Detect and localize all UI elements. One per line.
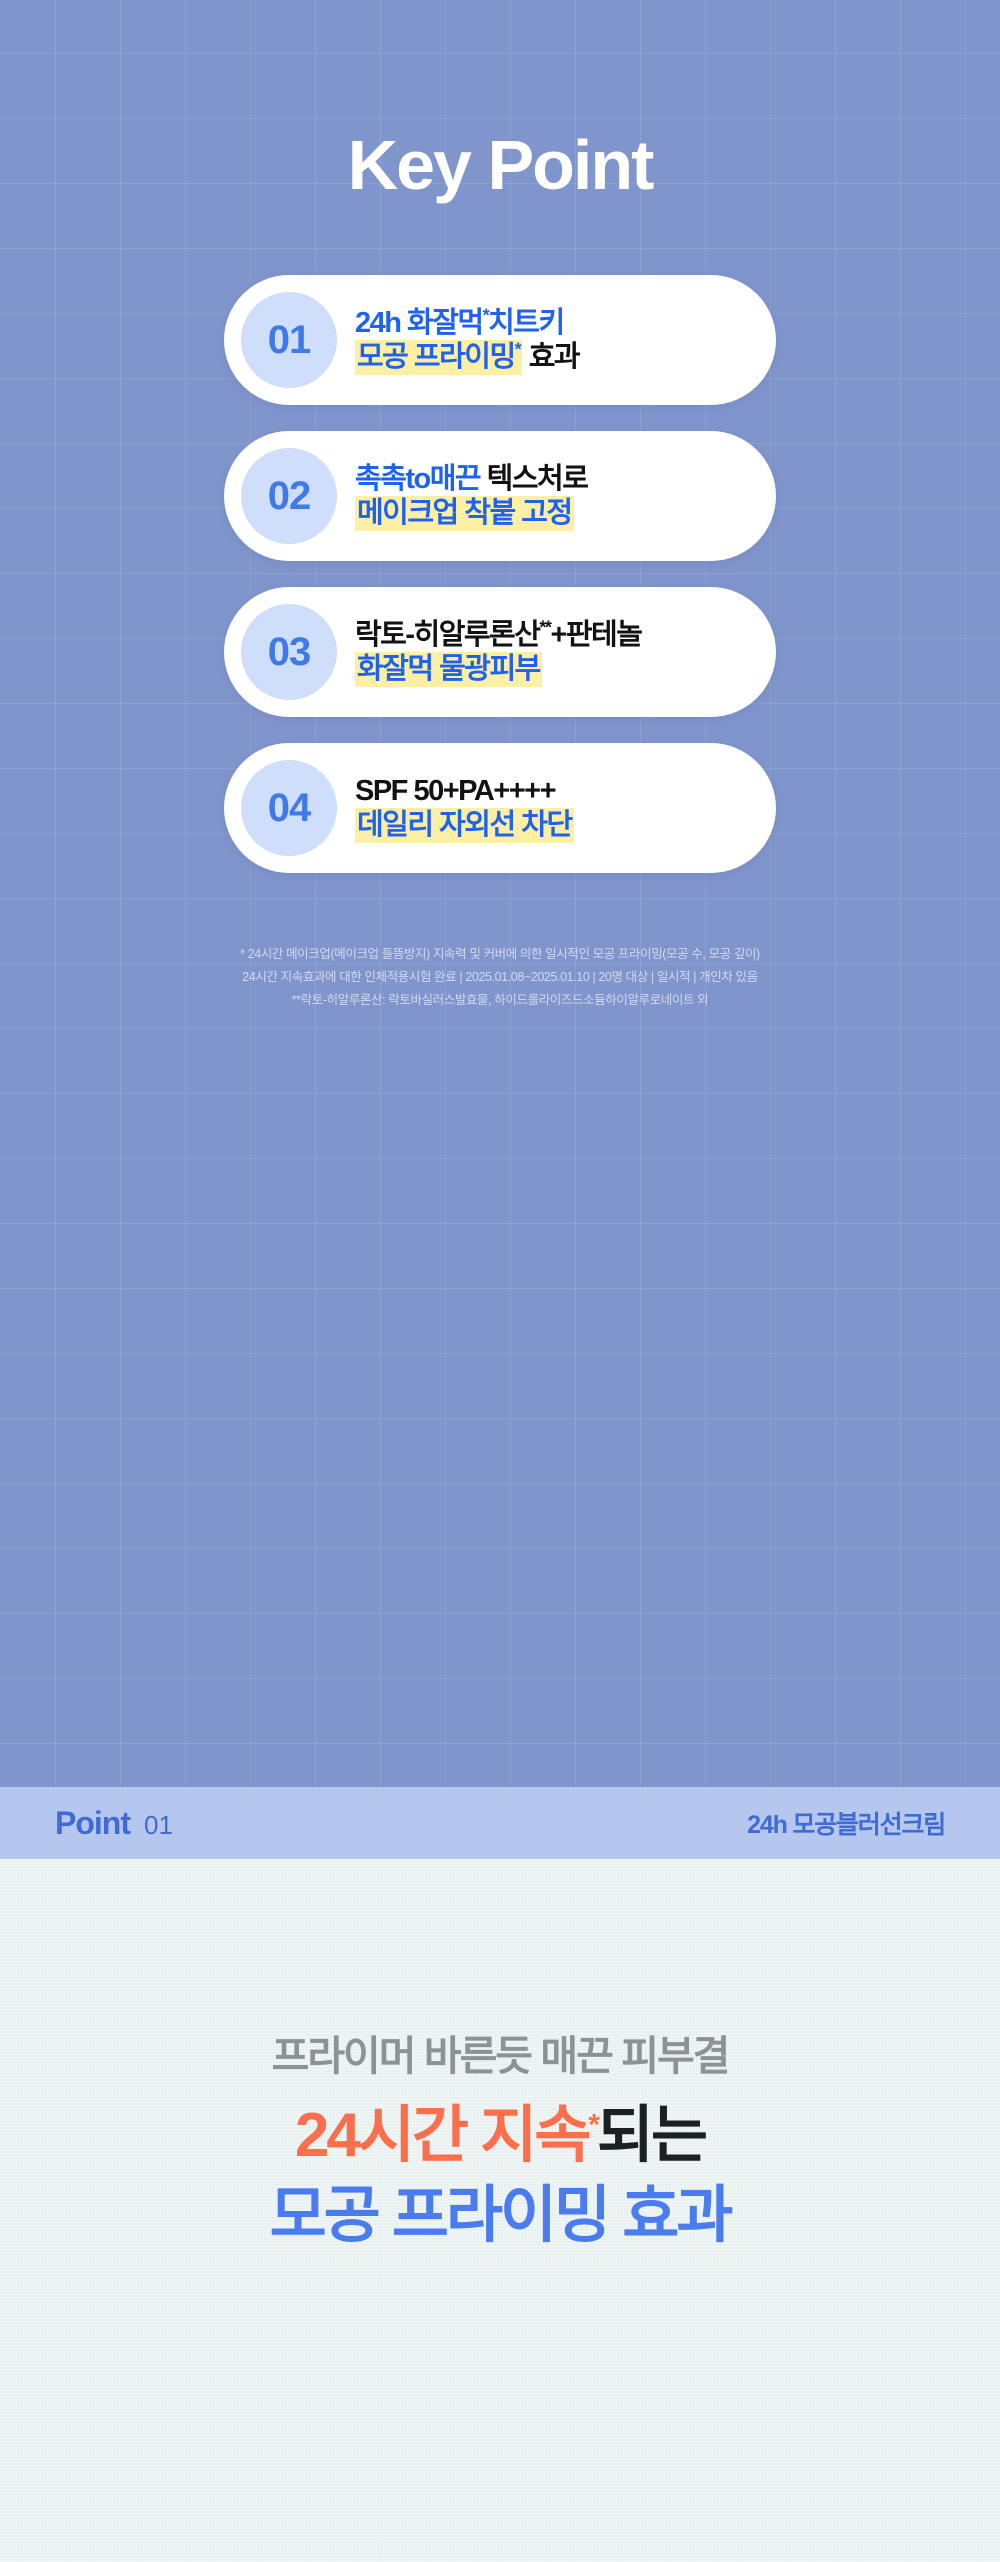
card-line2-highlight: 모공 프라이밍 — [357, 341, 515, 373]
card-line1-pre: 촉촉to매끈 — [355, 463, 480, 495]
footnote-line: * 24시간 메이크업(메이크업 들뜸방지) 지속력 및 커버에 의한 일시적인… — [0, 943, 1000, 966]
footnote-line: 24시간 지속효과에 대한 인체적용시험 완료 | 2025.01.08~202… — [0, 966, 1000, 989]
bottom-headline-sup: * — [588, 2108, 597, 2141]
key-point-card[interactable]: 04 SPF 50+PA++++ 데일리 자외선 차단 — [224, 743, 776, 873]
point-bar: Point 01 24h 모공블러선크림 — [0, 1787, 1000, 1859]
page-title: Key Point — [0, 0, 1000, 200]
card-line2-tail: 효과 — [522, 341, 579, 373]
card-text-block: 24h 화잘먹*치트키 모공 프라이밍* 효과 — [355, 308, 579, 372]
bottom-headline-2: 모공 프라이밍 효과 — [0, 2181, 1000, 2250]
key-point-card-list: 01 24h 화잘먹*치트키 모공 프라이밍* 효과 02 촉촉to매끈 텍스처… — [0, 275, 1000, 873]
bottom-headline-section: 프라이머 바른듯 매끈 피부결 24시간 지속*되는 모공 프라이밍 효과 — [0, 1859, 1000, 2562]
card-text-block: 락토-히알루론산**+판테놀 화잘먹 물광피부 — [355, 620, 641, 684]
product-detail-page: Key Point 01 24h 화잘먹*치트키 모공 프라이밍* 효과 02 — [0, 0, 1000, 2562]
card-number-badge: 01 — [241, 292, 337, 388]
card-line1-pre: 락토-히알루론산 — [355, 619, 539, 651]
card-line-1: 락토-히알루론산**+판테놀 — [355, 620, 641, 651]
card-number-badge: 04 — [241, 760, 337, 856]
card-line-1: SPF 50+PA++++ — [355, 776, 574, 807]
card-line1-pre: 24h 화잘먹 — [355, 307, 483, 339]
card-text-block: SPF 50+PA++++ 데일리 자외선 차단 — [355, 776, 574, 840]
point-bar-left: Point 01 — [55, 1805, 173, 1842]
card-line1-sup: ** — [539, 617, 550, 637]
point-bar-product-name: 24h 모공블러선크림 — [747, 1805, 945, 1841]
key-point-card[interactable]: 02 촉촉to매끈 텍스처로 메이크업 착붙 고정 — [224, 431, 776, 561]
point-bar-word: Point — [55, 1805, 130, 1842]
card-line-2: 화잘먹 물광피부 — [355, 654, 542, 685]
bottom-headline-black: 되는 — [597, 2101, 705, 2170]
key-point-section: Key Point 01 24h 화잘먹*치트키 모공 프라이밍* 효과 02 — [0, 0, 1000, 1787]
key-point-card[interactable]: 01 24h 화잘먹*치트키 모공 프라이밍* 효과 — [224, 275, 776, 405]
card-line1-post: 치트키 — [488, 307, 564, 339]
card-line2-sup: * — [515, 339, 521, 359]
card-text-block: 촉촉to매끈 텍스처로 메이크업 착붙 고정 — [355, 464, 587, 528]
card-line2-highlight: 화잘먹 물광피부 — [357, 653, 540, 685]
card-line2-highlight: 데일리 자외선 차단 — [357, 809, 572, 841]
card-line-1: 24h 화잘먹*치트키 — [355, 308, 579, 339]
card-line1-post: 텍스처로 — [480, 463, 587, 495]
card-line-2: 모공 프라이밍* 효과 — [355, 342, 579, 373]
bottom-headline-orange: 24시간 지속 — [295, 2101, 588, 2170]
card-line-1: 촉촉to매끈 텍스처로 — [355, 464, 587, 495]
card-number-badge: 02 — [241, 448, 337, 544]
card-line2-highlight: 메이크업 착붙 고정 — [357, 497, 572, 529]
card-line1-post: +판테놀 — [550, 619, 641, 651]
point-bar-number: 01 — [144, 1810, 173, 1841]
card-line-2: 메이크업 착붙 고정 — [355, 498, 574, 529]
key-point-card[interactable]: 03 락토-히알루론산**+판테놀 화잘먹 물광피부 — [224, 587, 776, 717]
bottom-subheadline: 프라이머 바른듯 매끈 피부결 — [0, 1859, 1000, 2079]
bottom-headline-1: 24시간 지속*되는 — [0, 2101, 1000, 2170]
card-line1-pre: SPF 50+PA++++ — [355, 775, 555, 807]
card-number-badge: 03 — [241, 604, 337, 700]
footnote-line: **락토-히알루론산: 락토바실러스발효물, 하이드롤라이즈드소듐하이알루로네이… — [0, 989, 1000, 1012]
footnote-block: * 24시간 메이크업(메이크업 들뜸방지) 지속력 및 커버에 의한 일시적인… — [0, 943, 1000, 1012]
card-line-2: 데일리 자외선 차단 — [355, 810, 574, 841]
